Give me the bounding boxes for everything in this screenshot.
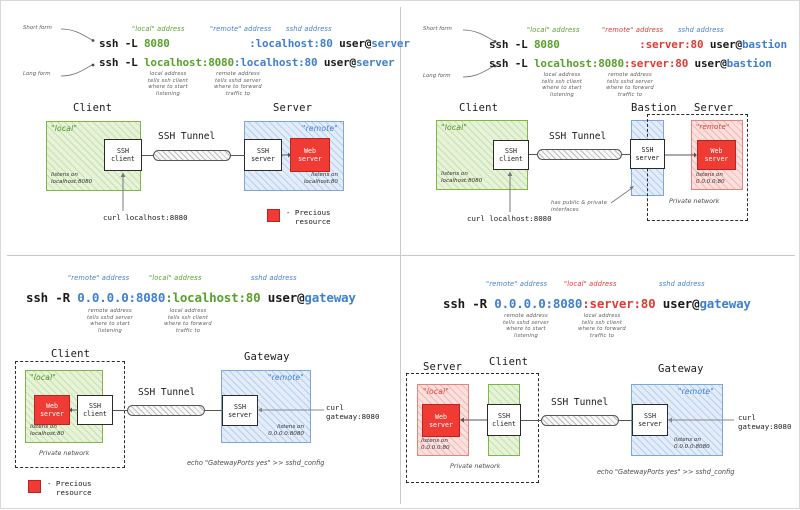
title-gateway: Gateway — [244, 351, 290, 363]
box-web-server: Web server — [290, 138, 330, 172]
command-remote-forward: ssh -R 0.0.0.0:8080:server:80 user@gatew… — [443, 296, 751, 311]
label-remote-address: "remote" address — [68, 274, 129, 282]
note-remote-address: remote address tells sshd server where t… — [75, 308, 145, 334]
private-network-label: Private network — [669, 198, 719, 205]
server-listens-note: listens on localhost:80 — [304, 172, 338, 186]
legend-text: - Preciousresource — [47, 479, 92, 497]
legend-line2: resource — [295, 217, 331, 226]
cmd-local: localhost:8080 — [534, 57, 624, 70]
curl-arrow — [258, 406, 326, 415]
cmd-prefix: ssh -L — [99, 37, 144, 50]
box-ssh-server: SSH server — [632, 404, 668, 436]
client-listens-note: listens on localhost:8080 — [441, 171, 482, 185]
web-server-label: Web server — [298, 147, 322, 163]
cmd-prefix: ssh -L — [489, 38, 534, 51]
ssh-client-label: SSH client — [499, 147, 523, 163]
gatewayports-echo: echo "GatewayPorts yes" >> sshd_config — [597, 469, 734, 476]
ssh-tunnel-pipe — [153, 150, 231, 161]
note-local-address: local address tells ssh client where to … — [135, 71, 201, 97]
command-short-form: ssh -L 8080 :server:80 user@bastion — [489, 38, 787, 51]
cmd-host: gateway — [304, 290, 355, 305]
long-form-annotation: Long form — [23, 71, 51, 78]
curl-arrow — [506, 170, 516, 212]
cmd-host: bastion — [742, 38, 787, 51]
note-local-address: local address tells ssh client where to … — [529, 72, 595, 98]
note-remote-address: remote address tells sshd server where t… — [491, 313, 561, 339]
cmd-remote: 0.0.0.0:8080 — [77, 290, 165, 305]
cmd-local: 8080 — [144, 37, 170, 50]
command-short-form: ssh -L 8080 :localhost:80 user@server — [99, 37, 410, 50]
box-ssh-client: SSH client — [104, 139, 142, 171]
legend-text: - Preciousresource — [286, 208, 331, 226]
ssh-tunnel-label: SSH Tunnel — [549, 131, 606, 142]
box-ssh-client: SSH client — [77, 395, 113, 425]
cmd-prefix: ssh -L — [489, 57, 534, 70]
client-listens-note: listens on localhost:8080 — [51, 172, 92, 186]
server-to-web-arrow — [282, 151, 292, 160]
zone-tag-local: "local" — [423, 387, 449, 396]
ssh-tunnel-pipe — [541, 415, 619, 426]
label-sshd-address: sshd address — [678, 26, 724, 34]
ssh-tunnel-pipe — [537, 149, 622, 160]
ssh-client-label: SSH client — [83, 402, 107, 418]
ssh-server-label: SSH server — [251, 147, 275, 163]
panel-local-forward-bastion: Short form Long form "local" address "re… — [401, 1, 800, 255]
box-ssh-server: SSH server — [222, 395, 258, 426]
cmd-remote: 0.0.0.0:8080 — [494, 296, 582, 311]
title-client: Client — [489, 356, 528, 368]
gateway-listens-note: listens on 0.0.0.0:8080 — [674, 437, 710, 451]
box-web-server: Web server — [422, 404, 460, 437]
curl-command: curl localhost:8080 — [467, 214, 552, 223]
title-gateway: Gateway — [658, 363, 704, 375]
cmd-prefix: ssh -L — [99, 56, 144, 69]
panel-remote-forward-simple: "remote" address "local" address sshd ad… — [1, 256, 400, 510]
box-ssh-server: SSH server — [244, 139, 282, 171]
cmd-user: user@ — [703, 38, 742, 51]
ssh-tunnel-label: SSH Tunnel — [138, 387, 195, 398]
panel-remote-forward-server: "remote" address "local" address sshd ad… — [401, 256, 800, 510]
title-client: Client — [459, 102, 498, 114]
note-remote-address: remote address tells sshd server where t… — [597, 72, 663, 98]
curl-command: curl gateway:8080 — [326, 403, 379, 421]
cmd-local: 8080 — [534, 38, 560, 51]
web-server-label: Web server — [40, 402, 64, 418]
cmd-user: user@ — [655, 296, 699, 311]
label-local-address: "local" address — [149, 274, 202, 282]
gatewayports-echo: echo "GatewayPorts yes" >> sshd_config — [187, 460, 324, 467]
ssh-tunnel-label: SSH Tunnel — [158, 131, 215, 142]
ssh-server-label: SSH server — [636, 146, 660, 162]
command-long-form: ssh -L localhost:8080:server:80 user@bas… — [489, 57, 772, 70]
zone-tag-local: "local" — [441, 123, 467, 132]
title-server: Server — [694, 102, 733, 114]
zone-tag-remote: "remote" — [302, 124, 338, 133]
command-long-form: ssh -L localhost:8080:localhost:80 user@… — [99, 56, 394, 69]
short-form-annotation: Short form — [23, 25, 52, 32]
client-to-web-arrow — [69, 406, 79, 415]
command-remote-forward: ssh -R 0.0.0.0:8080:localhost:80 user@ga… — [26, 290, 356, 305]
legend-line2: resource — [56, 488, 92, 497]
cmd-remote: :localhost:80 — [249, 37, 333, 50]
web-server-label: Web server — [705, 147, 729, 163]
legend-swatch — [28, 480, 41, 493]
panel-local-forward-simple: Short form Long form "local" address "re… — [1, 1, 400, 255]
cmd-remote: :server:80 — [624, 57, 688, 70]
label-local-address: "local" address — [564, 280, 617, 288]
zone-tag-remote: "remote" — [678, 387, 714, 396]
title-server: Server — [273, 102, 312, 114]
label-remote-address: "remote" address — [486, 280, 547, 288]
label-remote-address: "remote" address — [210, 25, 271, 33]
zone-tag-remote: "remote" — [696, 123, 729, 131]
curl-command: curl localhost:8080 — [103, 213, 188, 222]
ssh-server-label: SSH server — [638, 412, 662, 428]
curl-arrow — [668, 416, 736, 425]
private-network-label: Private network — [39, 450, 89, 457]
box-web-server: Web server — [34, 395, 70, 425]
cmd-user: user@ — [260, 290, 304, 305]
zone-tag-remote: "remote" — [268, 373, 304, 382]
note-local-address: local address tells ssh client where to … — [567, 313, 637, 339]
box-ssh-server: SSH server — [630, 139, 665, 169]
client-listens-note: listens on localhost:80 — [30, 424, 64, 438]
cmd-prefix: ssh -R — [443, 296, 494, 311]
cmd-remote: :localhost:80 — [234, 56, 318, 69]
cmd-prefix: ssh -R — [26, 290, 77, 305]
box-ssh-client: SSH client — [493, 140, 529, 170]
cmd-local: :localhost:80 — [165, 290, 260, 305]
cmd-host: bastion — [727, 57, 772, 70]
short-form-annotation: Short form — [423, 26, 452, 33]
legend-swatch — [267, 209, 280, 222]
legend-dash: - — [286, 208, 290, 217]
cmd-user: user@ — [333, 37, 372, 50]
ssh-client-label: SSH client — [111, 147, 135, 163]
web-server-label: Web server — [429, 413, 453, 429]
ssh-server-label: SSH server — [228, 403, 252, 419]
server-listens-note: listens on 0.0.0.0:80 — [421, 438, 450, 452]
curl-command: curl gateway:8080 — [738, 413, 791, 431]
private-network-label: Private network — [450, 463, 500, 470]
label-local-address: "local" address — [132, 25, 185, 33]
legend-line1: Precious — [295, 208, 331, 217]
label-sshd-address: sshd address — [251, 274, 297, 282]
box-ssh-client: SSH client — [487, 404, 521, 436]
cmd-host: server — [356, 56, 395, 69]
curl-arrow — [119, 171, 129, 211]
ssh-tunnel-pipe — [127, 405, 205, 416]
ssh-tunnel-label: SSH Tunnel — [551, 397, 608, 408]
zone-tag-local: "local" — [51, 124, 77, 133]
bastion-to-web-arrow — [665, 151, 698, 160]
client-to-web-arrow — [460, 416, 488, 425]
label-sshd-address: sshd address — [286, 25, 332, 33]
title-server: Server — [423, 361, 462, 373]
long-form-annotation: Long form — [423, 73, 451, 80]
note-local-address: local address tells ssh client where to … — [153, 308, 223, 334]
label-local-address: "local" address — [527, 26, 580, 34]
legend-line1: Precious — [56, 479, 92, 488]
diagram-sheet: Short form Long form "local" address "re… — [0, 0, 800, 509]
cmd-local: :server:80 — [582, 296, 655, 311]
gateway-listens-note: listens on 0.0.0.0:8080 — [268, 424, 304, 438]
bastion-note: has public & private interfaces — [551, 200, 623, 213]
label-sshd-address: sshd address — [659, 280, 705, 288]
box-web-server: Web server — [697, 140, 736, 170]
ssh-client-label: SSH client — [492, 412, 516, 428]
title-client: Client — [51, 348, 90, 360]
title-client: Client — [73, 102, 112, 114]
cmd-user: user@ — [688, 57, 727, 70]
label-remote-address: "remote" address — [602, 26, 663, 34]
title-bastion: Bastion — [631, 102, 677, 114]
zone-tag-local: "local" — [30, 373, 56, 382]
server-listens-note: listens on 0.0.0.0:80 — [696, 172, 725, 186]
cmd-remote: :server:80 — [639, 38, 703, 51]
cmd-local: localhost:8080 — [144, 56, 234, 69]
note-remote-address: remote address tells sshd server where t… — [205, 71, 271, 97]
cmd-user: user@ — [317, 56, 356, 69]
legend-dash: - — [47, 479, 51, 488]
cmd-host: gateway — [699, 296, 750, 311]
